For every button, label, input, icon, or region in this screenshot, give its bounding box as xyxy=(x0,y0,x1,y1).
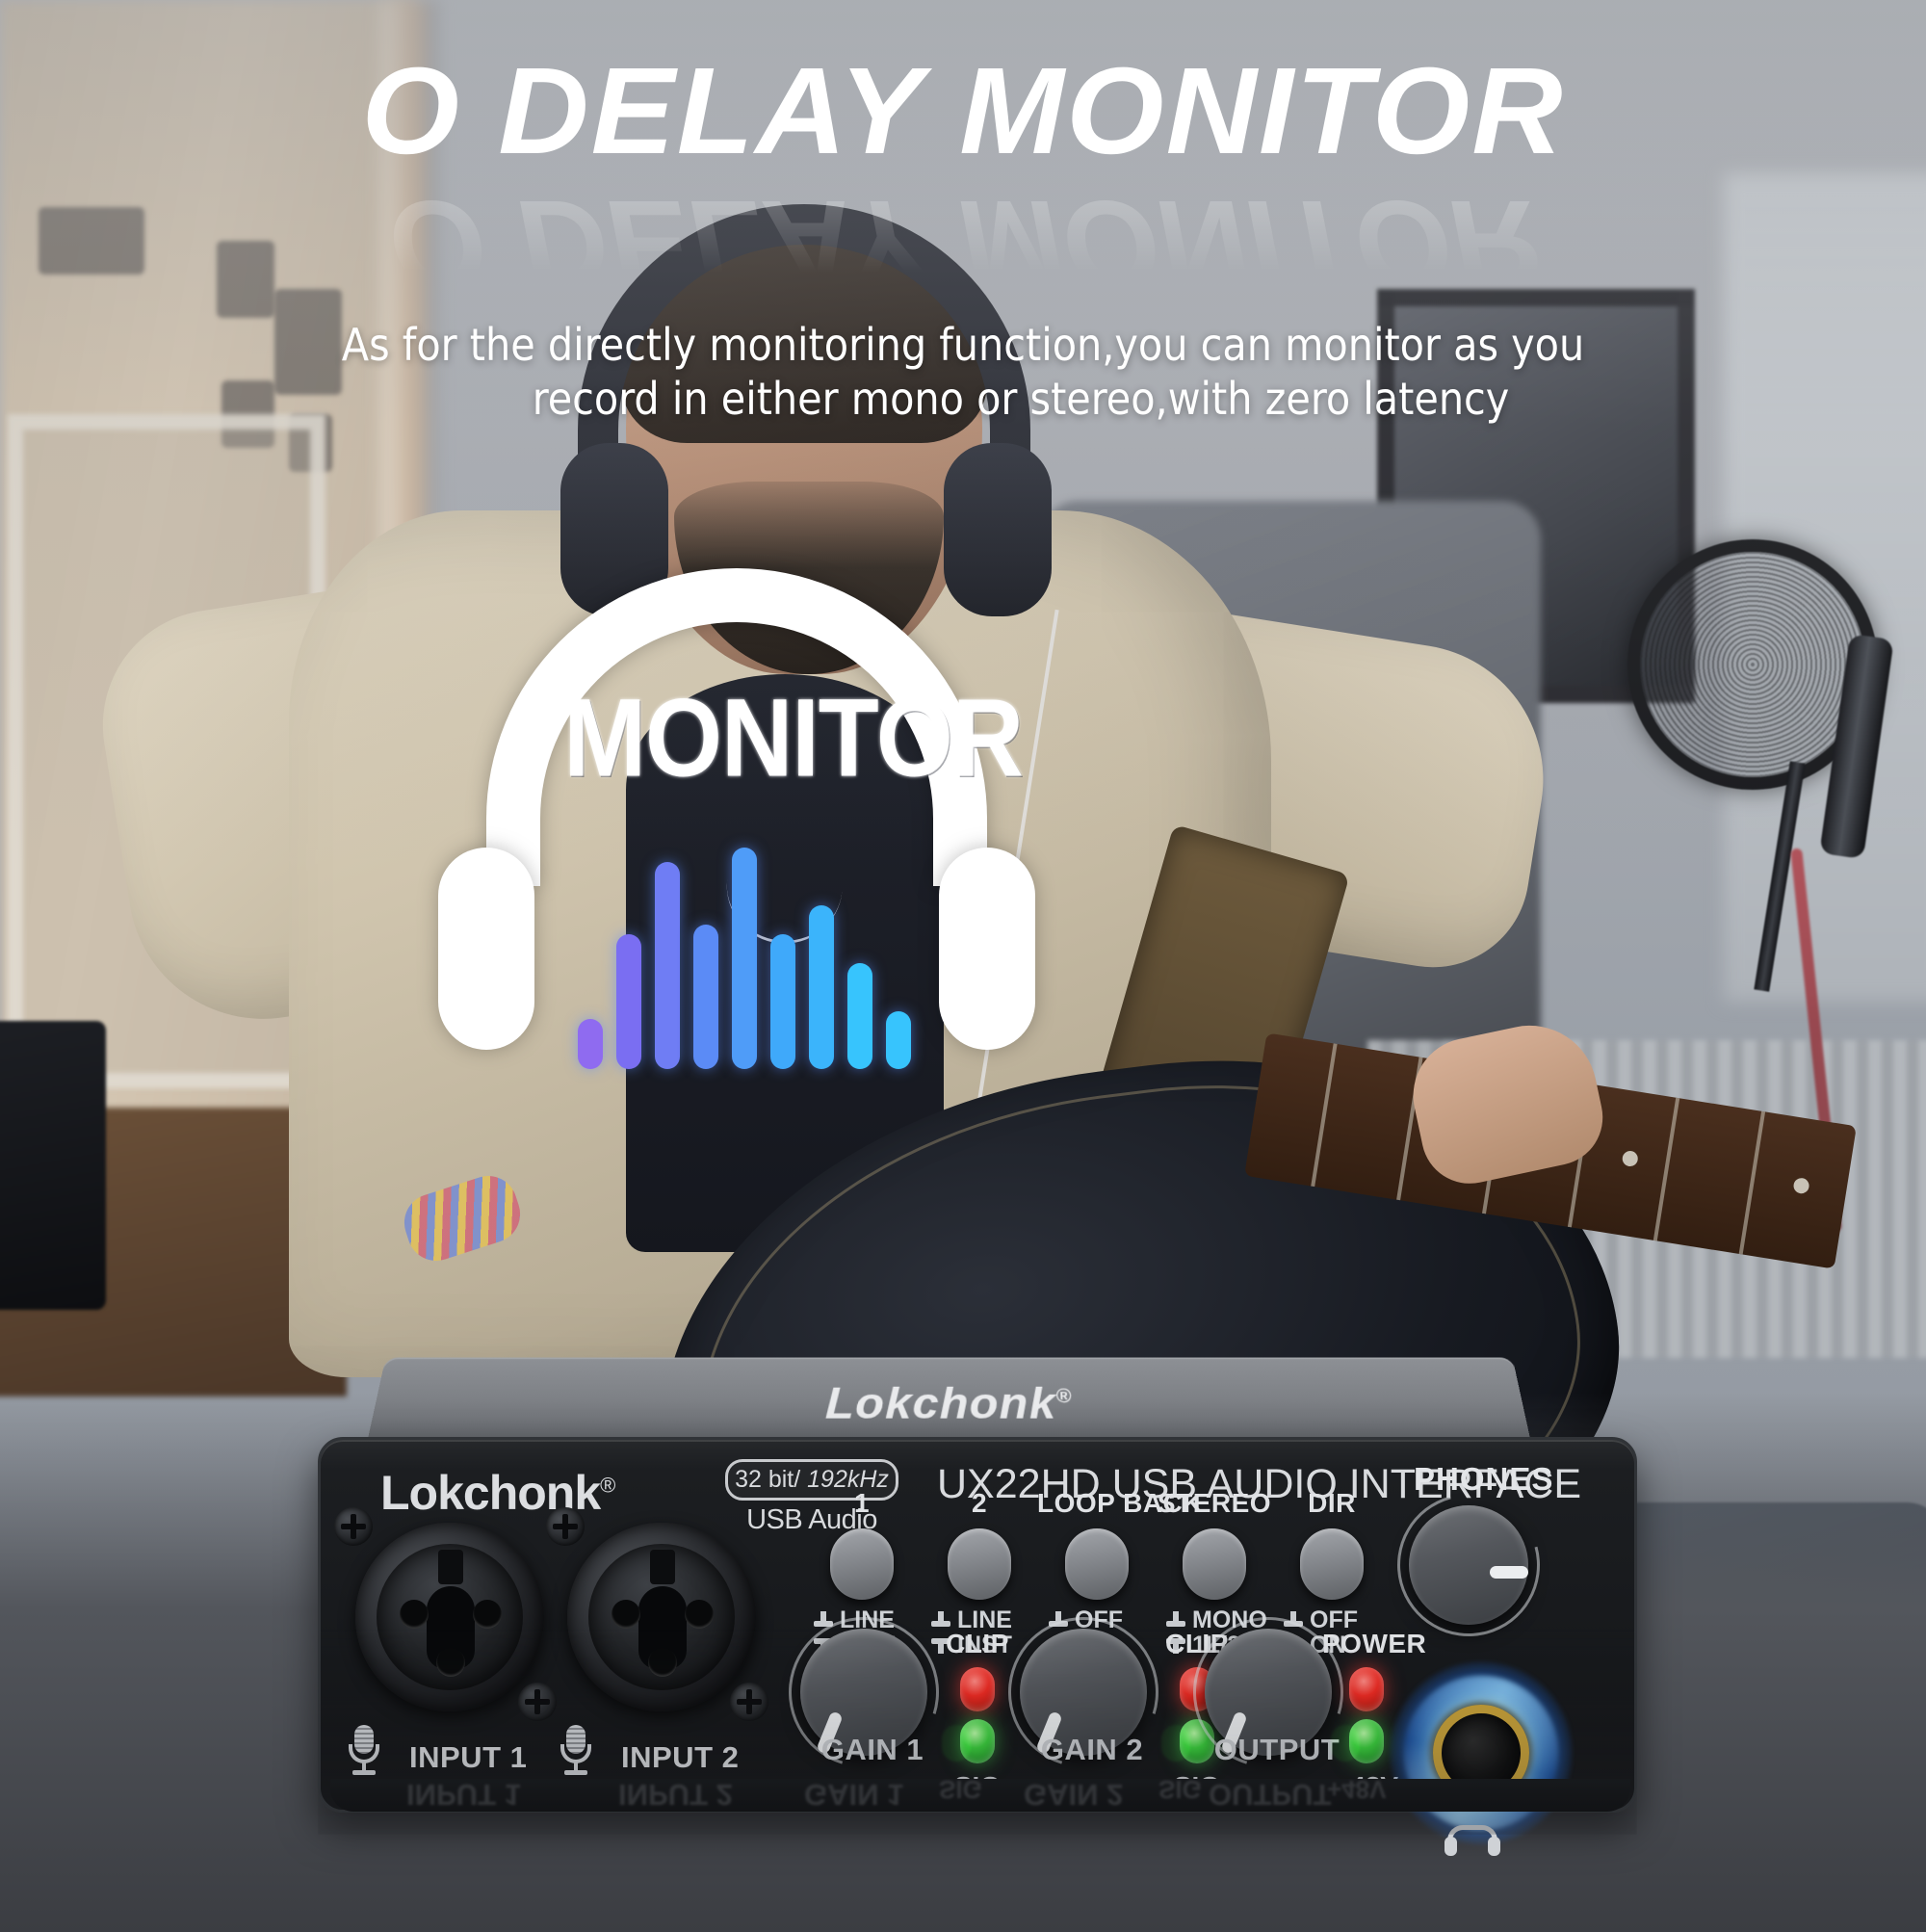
headphone-cup-left-icon xyxy=(438,848,534,1050)
product-marketing-image: O DELAY MONITOR O DELAY MONITOR As for t… xyxy=(0,0,1926,1932)
power-label: POWER xyxy=(1322,1629,1411,1659)
jack-keyway xyxy=(650,1550,675,1584)
subtitle-line-1: As for the directly monitoring function,… xyxy=(342,319,1584,371)
jack-pin xyxy=(436,1648,465,1677)
waveform-bar xyxy=(578,1019,603,1069)
waveform-graphic xyxy=(578,848,896,1069)
waveform-bar xyxy=(732,848,757,1069)
device-bottom-lip xyxy=(330,1779,1630,1812)
registered-mark-icon: ® xyxy=(600,1473,614,1497)
jack-keyway xyxy=(438,1550,463,1584)
input-2-label: INPUT 2 xyxy=(621,1740,739,1775)
jack-inner xyxy=(588,1544,735,1690)
waveform-bar xyxy=(847,963,872,1069)
gain-1-knob-unit[interactable]: GAIN 1 xyxy=(800,1629,945,1756)
clip-led xyxy=(960,1667,995,1711)
knob-pointer xyxy=(1490,1566,1528,1579)
registered-mark-icon: ® xyxy=(1055,1385,1073,1407)
waveform-bar xyxy=(693,925,718,1069)
panel-screw xyxy=(730,1683,768,1721)
device-top-brand: Lokchonk® xyxy=(370,1378,1528,1429)
switch-label: 2 xyxy=(920,1488,1039,1519)
monitor-word: MONITOR xyxy=(563,676,920,802)
switch-knob[interactable] xyxy=(830,1528,894,1600)
waveform-bar xyxy=(770,934,795,1069)
switch-knob[interactable] xyxy=(948,1528,1011,1600)
jack-pin xyxy=(648,1648,677,1677)
gain-2-label: GAIN 2 xyxy=(1020,1733,1164,1767)
jack-pin xyxy=(612,1600,640,1629)
clip-label: CLIP xyxy=(933,1629,1022,1659)
page-title-wrap: O DELAY MONITOR xyxy=(0,50,1926,173)
phones-section-label: PHONES xyxy=(1414,1461,1553,1498)
power-led xyxy=(1349,1667,1384,1711)
gain-1-label: GAIN 1 xyxy=(800,1733,945,1767)
panel-screw xyxy=(518,1683,557,1721)
led-group-clip-sig-1: CLIP SIG xyxy=(933,1629,1022,1802)
jack-inner xyxy=(377,1544,523,1690)
input-1-label: INPUT 1 xyxy=(409,1740,527,1775)
combo-input-jack-1[interactable] xyxy=(355,1523,544,1711)
microphone-icon xyxy=(560,1725,592,1775)
bit-depth-text: 32 bit/ xyxy=(735,1466,800,1493)
panel-screw xyxy=(334,1507,373,1546)
page-title: O DELAY MONITOR xyxy=(0,50,1926,173)
device-top-brand-text: Lokchonk xyxy=(824,1379,1057,1428)
switch-up-icon xyxy=(1166,1611,1185,1629)
switch-label: DIR xyxy=(1272,1488,1392,1519)
combo-input-jack-2[interactable] xyxy=(567,1523,756,1711)
switch-label: 1 xyxy=(802,1488,922,1519)
switch-knob[interactable] xyxy=(1183,1528,1246,1600)
waveform-bar xyxy=(616,934,641,1069)
switch-up-icon xyxy=(931,1611,950,1629)
device-front-panel: Lokchonk® 32 bit/ 192kHz USB Audio UX22H… xyxy=(318,1437,1637,1813)
switch-knob[interactable] xyxy=(1065,1528,1129,1600)
phones-knob-unit[interactable] xyxy=(1409,1505,1553,1625)
waveform-bar xyxy=(809,905,834,1069)
sig-led xyxy=(960,1719,995,1763)
switch-knob[interactable] xyxy=(1300,1528,1364,1600)
waveform-bar xyxy=(655,862,680,1069)
page-subtitle: As for the directly monitoring function,… xyxy=(289,318,1637,426)
jack-pin xyxy=(473,1600,502,1629)
audio-interface-device: Lokchonk® Lokchonk® 32 bit/ 192kHz USB A… xyxy=(318,1348,1637,1849)
gain-2-knob-unit[interactable]: GAIN 2 xyxy=(1020,1629,1164,1756)
phones-knob[interactable] xyxy=(1409,1505,1528,1625)
monitor-headphone-graphic: MONITOR xyxy=(438,568,1035,1059)
switch-label: STEREO xyxy=(1155,1488,1274,1519)
microphone-icon xyxy=(348,1725,380,1775)
waveform-bar xyxy=(886,1011,911,1069)
headphones-icon xyxy=(1444,1825,1500,1854)
brand-logo: Lokchonk® xyxy=(380,1465,614,1521)
phantom-power-led xyxy=(1349,1719,1384,1763)
panel-screw xyxy=(546,1507,585,1546)
subtitle-line-2: record in either mono or stereo,with zer… xyxy=(289,372,1637,426)
switch-label: LOOP BACK xyxy=(1037,1488,1157,1519)
jack-pin xyxy=(685,1600,714,1629)
jack-pin xyxy=(400,1600,429,1629)
headphone-cup-right-icon xyxy=(939,848,1035,1050)
